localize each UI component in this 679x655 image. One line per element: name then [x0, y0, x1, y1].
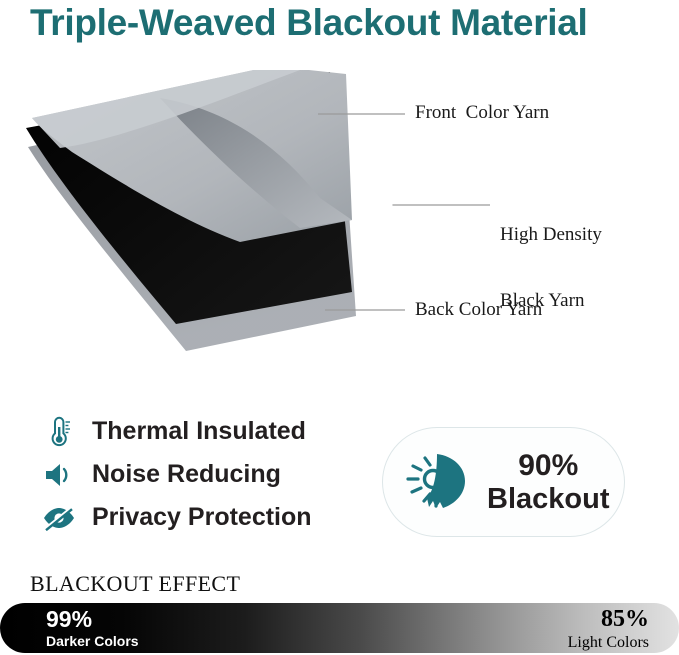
thermometer-icon	[40, 415, 78, 449]
darker-caption: Darker Colors	[46, 634, 139, 648]
speaker-sound-icon	[40, 458, 78, 492]
feature-list: Thermal Insulated Noise Reducing Privacy…	[40, 410, 370, 539]
darker-percent: 99%	[46, 608, 139, 631]
blackout-effect-heading: BLACKOUT EFFECT	[30, 571, 240, 597]
sun-blocked-by-shade-icon	[403, 446, 477, 518]
light-caption: Light Colors	[568, 635, 649, 651]
feature-label-thermal-insulated: Thermal Insulated	[92, 417, 306, 446]
label-high-density-line1: High Density	[500, 224, 602, 246]
label-back-color-yarn: Back Color Yarn	[415, 299, 542, 321]
page-title: Triple-Weaved Blackout Material	[30, 2, 670, 44]
leader-dot-high-density	[379, 199, 392, 212]
feature-thermal-insulated: Thermal Insulated	[40, 410, 370, 453]
blackout-effect-darker: 99% Darker Colors	[46, 608, 139, 648]
blackout-word: Blackout	[487, 485, 609, 514]
blackout-badge-text: 90% Blackout	[487, 451, 609, 514]
label-front-color-yarn: Front Color Yarn	[415, 102, 549, 124]
feature-label-noise-reducing: Noise Reducing	[92, 460, 281, 489]
feature-label-privacy-protection: Privacy Protection	[92, 503, 312, 532]
eye-slash-icon	[40, 501, 78, 535]
blackout-badge: 90% Blackout	[382, 427, 625, 537]
blackout-effect-light: 85% Light Colors	[568, 607, 649, 651]
blackout-percent: 90%	[487, 451, 609, 481]
feature-privacy-protection: Privacy Protection	[40, 496, 370, 539]
light-percent: 85%	[568, 607, 649, 631]
feature-noise-reducing: Noise Reducing	[40, 453, 370, 496]
